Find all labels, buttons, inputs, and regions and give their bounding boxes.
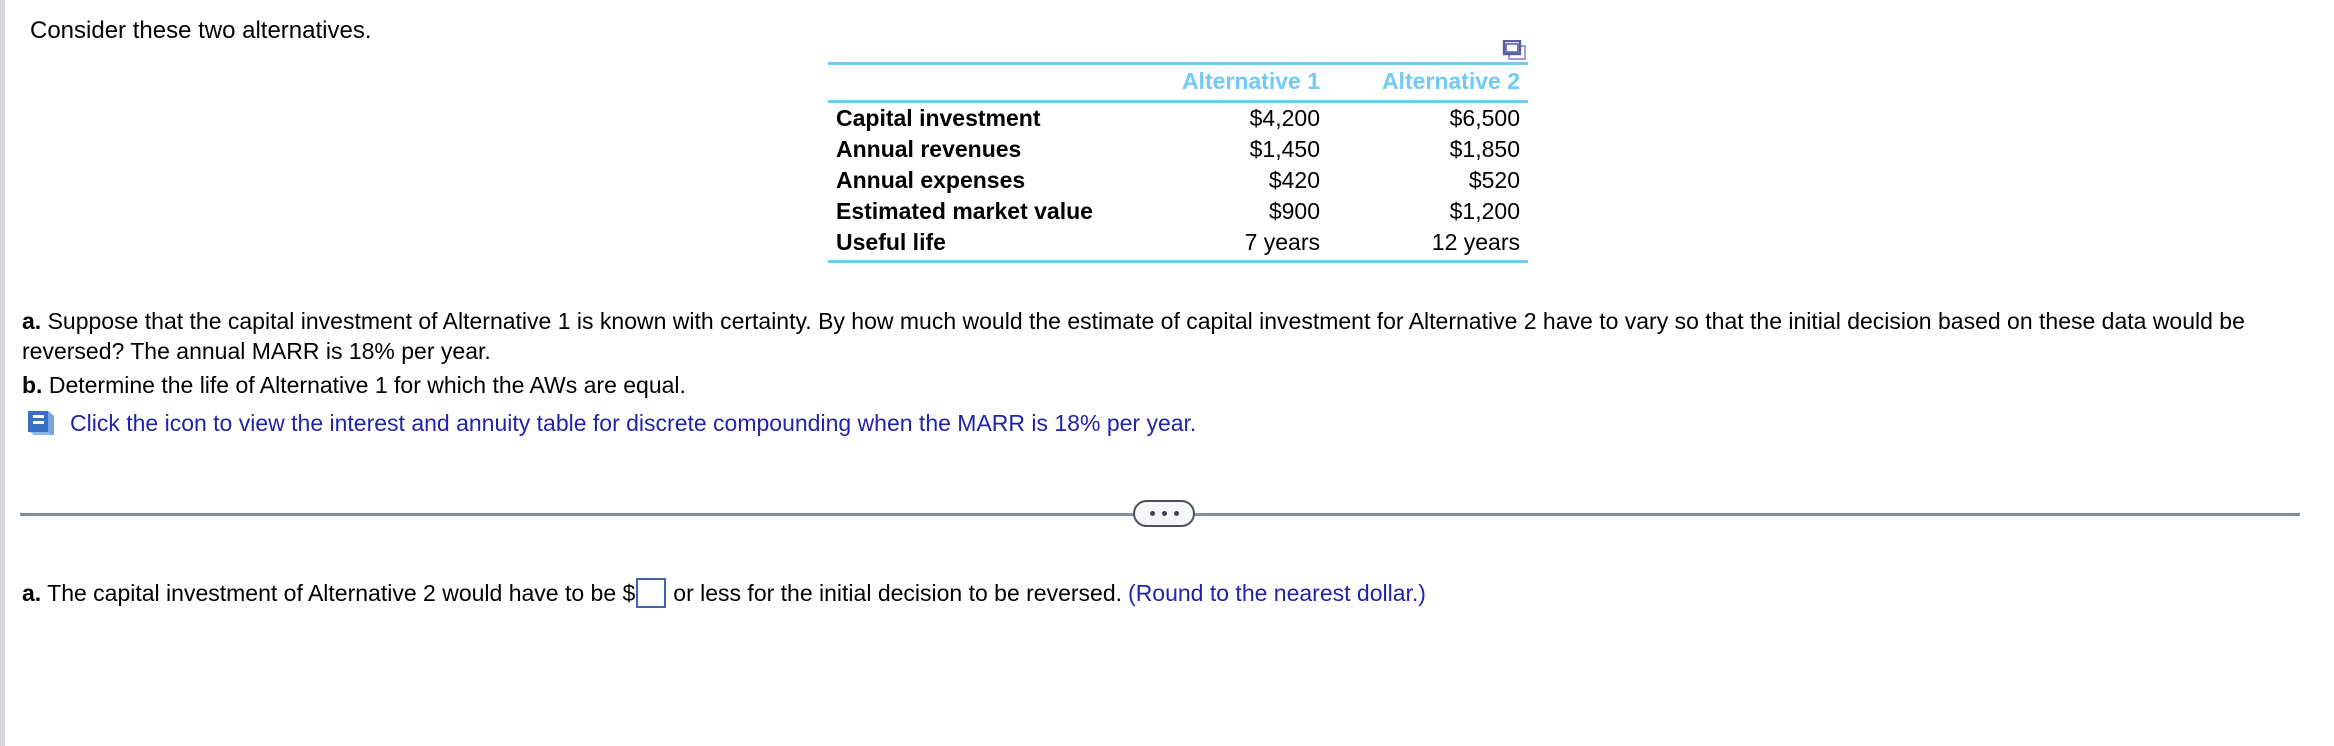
question-part-b: b. Determine the life of Alternative 1 f… (22, 370, 2322, 400)
popout-window-icon[interactable] (1502, 40, 1528, 62)
part-a-marker: a. (22, 308, 41, 334)
cell-annual-expenses-alt2: $520 (1328, 165, 1528, 196)
part-b-marker: b. (22, 372, 42, 398)
cell-annual-revenues-alt2: $1,850 (1328, 134, 1528, 165)
table-header-row: Alternative 1 Alternative 2 (828, 64, 1528, 102)
answer-text-after: or less for the initial decision to be r… (673, 578, 1122, 608)
cell-useful-life-alt2: 12 years (1328, 227, 1528, 262)
row-label-annual-revenues: Annual revenues (828, 134, 1128, 165)
intro-text: Consider these two alternatives. (30, 16, 372, 46)
interest-table-link-text[interactable]: Click the icon to view the interest and … (70, 410, 1196, 437)
table-row: Capital investment $4,200 $6,500 (828, 102, 1528, 135)
rounding-note: (Round to the nearest dollar.) (1128, 578, 1426, 608)
cell-capital-investment-alt2: $6,500 (1328, 102, 1528, 135)
answer-input[interactable] (636, 578, 666, 608)
column-header-alternative-1: Alternative 1 (1128, 64, 1328, 102)
question-block: a. Suppose that the capital investment o… (22, 306, 2322, 400)
section-divider (0, 498, 2334, 530)
table-row: Annual expenses $420 $520 (828, 165, 1528, 196)
cell-capital-investment-alt1: $4,200 (1128, 102, 1328, 135)
table-row: Annual revenues $1,450 $1,850 (828, 134, 1528, 165)
cell-useful-life-alt1: 7 years (1128, 227, 1328, 262)
part-a-text: Suppose that the capital investment of A… (22, 308, 2245, 364)
row-label-estimated-market-value: Estimated market value (828, 196, 1128, 227)
question-part-a: a. Suppose that the capital investment o… (22, 306, 2322, 366)
table-corner-header (828, 64, 1128, 102)
part-b-text: Determine the life of Alternative 1 for … (42, 372, 685, 398)
table-row: Estimated market value $900 $1,200 (828, 196, 1528, 227)
ellipsis-dot (1174, 511, 1179, 516)
answer-row: a. The capital investment of Alternative… (22, 578, 1426, 608)
interest-table-link-row[interactable]: Click the icon to view the interest and … (24, 408, 1196, 438)
cell-annual-expenses-alt1: $420 (1128, 165, 1328, 196)
book-icon[interactable] (24, 408, 58, 438)
row-label-annual-expenses: Annual expenses (828, 165, 1128, 196)
problem-content: Consider these two alternatives. Alterna… (0, 0, 2334, 746)
row-label-capital-investment: Capital investment (828, 102, 1128, 135)
ellipsis-dot (1162, 511, 1167, 516)
cell-annual-revenues-alt1: $1,450 (1128, 134, 1328, 165)
ellipsis-dot (1150, 511, 1155, 516)
alternatives-table: Alternative 1 Alternative 2 Capital inve… (828, 62, 1528, 263)
row-label-useful-life: Useful life (828, 227, 1128, 262)
table-row: Useful life 7 years 12 years (828, 227, 1528, 262)
cell-estimated-market-value-alt2: $1,200 (1328, 196, 1528, 227)
alternatives-table-container: Alternative 1 Alternative 2 Capital inve… (828, 62, 1528, 263)
ellipsis-icon[interactable] (1133, 500, 1195, 527)
answer-marker: a. (22, 578, 41, 608)
answer-text-before: The capital investment of Alternative 2 … (41, 578, 635, 608)
column-header-alternative-2: Alternative 2 (1328, 64, 1528, 102)
cell-estimated-market-value-alt1: $900 (1128, 196, 1328, 227)
